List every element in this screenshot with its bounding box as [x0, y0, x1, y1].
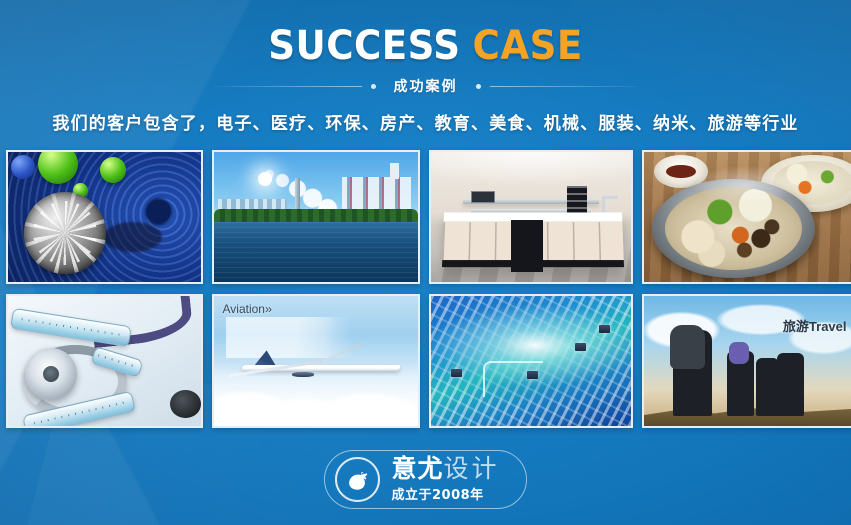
chip-component	[599, 325, 610, 333]
fullerene-cage	[24, 192, 106, 274]
hiker-silhouette	[727, 351, 754, 416]
nanotech-image	[8, 152, 201, 282]
brand-name-light: 设计	[444, 456, 500, 482]
steam	[681, 152, 811, 207]
gallery-tile-travel[interactable]: 旅游Travel	[642, 294, 851, 428]
industry-tagline: 我们的客户包含了，电子、医疗、环保、房产、教育、美食、机械、服装、纳米、旅游等行…	[0, 109, 851, 134]
right-dot-icon	[476, 84, 481, 89]
blue-sphere	[11, 155, 35, 179]
aviation-caption: Aviation››	[223, 302, 271, 316]
success-case-banner: SUCCESSCASE 成功案例 我们的客户包含了，电子、医疗、环保、房产、教育…	[0, 0, 851, 525]
aviation-image: Aviation››	[214, 296, 418, 426]
subtitle-row: 成功案例	[0, 76, 851, 96]
brand-established: 成立于2008年	[391, 484, 483, 503]
hiker-silhouette	[777, 353, 804, 415]
airplane	[232, 348, 403, 387]
brand-name-row: 意尤 设计	[391, 456, 499, 482]
stethoscope-head	[25, 348, 77, 400]
laboratory-image	[431, 152, 631, 282]
environment-image	[214, 152, 418, 282]
subtitle-chinese: 成功案例	[385, 76, 467, 96]
gallery-tile-aviation[interactable]: Aviation››	[212, 294, 420, 428]
chip-component	[451, 369, 462, 377]
gallery-tile-laboratory[interactable]	[429, 150, 633, 284]
treeline	[214, 209, 418, 222]
page-title: SUCCESSCASE	[30, 26, 821, 66]
gallery-tile-environment[interactable]	[212, 150, 420, 284]
earpiece	[170, 390, 201, 419]
gallery-tile-electronics[interactable]	[429, 294, 633, 428]
right-rule	[490, 86, 638, 87]
brand-name-bold: 意尤	[391, 456, 443, 482]
green-sphere	[38, 150, 78, 184]
case-gallery-grid: Aviation›› 旅游Travel	[5, 150, 847, 428]
travel-image: 旅游Travel	[644, 296, 851, 426]
lab-bench-dark-panel	[511, 220, 543, 272]
water-surface	[214, 222, 418, 282]
left-dot-icon	[371, 84, 376, 89]
title-case: CASE	[473, 23, 583, 69]
title-success: SUCCESS	[268, 23, 460, 69]
food-image	[644, 152, 851, 282]
footer-logo-area: 意尤 设计 成立于2008年	[0, 450, 851, 509]
chip-component	[527, 371, 538, 379]
chevron-right-icon: ››	[265, 302, 271, 316]
electronics-image	[431, 296, 631, 426]
brand-logo[interactable]: 意尤 设计 成立于2008年	[324, 450, 526, 509]
gallery-tile-nanotech[interactable]	[6, 150, 203, 284]
banner-header: SUCCESSCASE 成功案例 我们的客户包含了，电子、医疗、环保、房产、教育…	[0, 0, 851, 134]
gallery-tile-food[interactable]	[642, 150, 851, 284]
gallery-tile-medical[interactable]	[6, 294, 203, 428]
hiker-silhouette	[673, 330, 713, 416]
aviation-caption-text: Aviation	[223, 302, 265, 316]
hiker-silhouette	[756, 358, 779, 415]
airplane-engine	[292, 372, 314, 377]
green-sphere	[100, 157, 126, 183]
left-rule	[214, 86, 362, 87]
bird-logo-icon	[335, 457, 380, 502]
medical-image	[8, 296, 201, 426]
travel-caption: 旅游Travel	[783, 316, 847, 335]
shadow-disk	[104, 222, 162, 252]
circuit-trace	[483, 361, 543, 397]
chip-component	[575, 343, 586, 351]
brand-text: 意尤 设计 成立于2008年	[391, 456, 499, 503]
lab-monitor	[471, 191, 495, 203]
